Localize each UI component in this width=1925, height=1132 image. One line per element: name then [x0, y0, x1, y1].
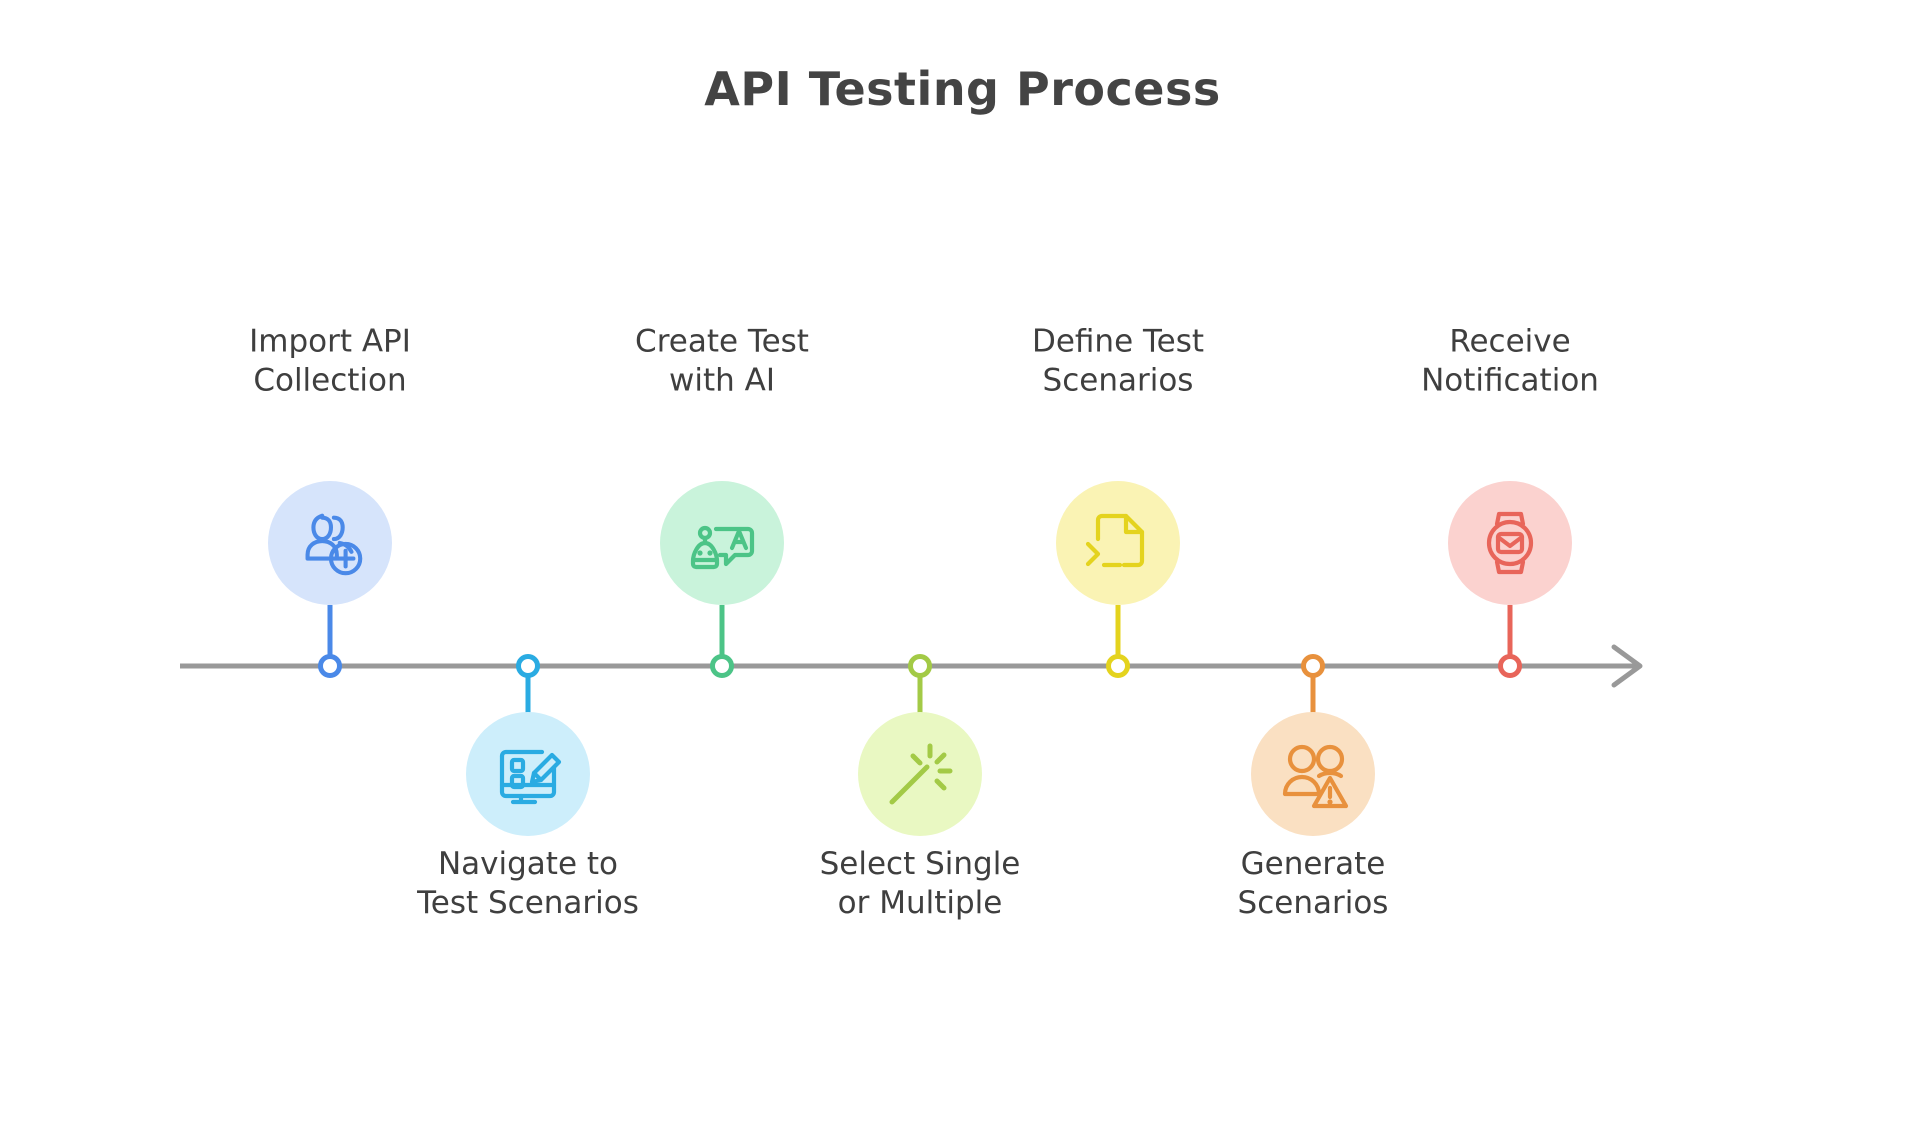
step-label: Receive Notification — [1360, 322, 1660, 400]
diagram-canvas: API Testing Process Import API Collectio… — [0, 0, 1925, 1132]
code-document-icon[interactable] — [1056, 481, 1180, 605]
timeline-step-7[interactable]: Receive Notification — [1360, 0, 1660, 1132]
ai-robot-chat-icon[interactable] — [660, 481, 784, 605]
users-warning-icon[interactable] — [1251, 712, 1375, 836]
add-users-icon[interactable] — [268, 481, 392, 605]
smartwatch-mail-icon[interactable] — [1448, 481, 1572, 605]
magic-wand-icon[interactable] — [858, 712, 982, 836]
